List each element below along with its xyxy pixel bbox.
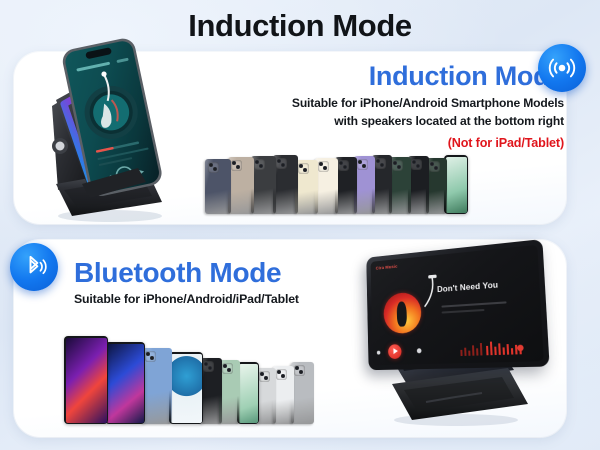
camera-module-icon	[392, 160, 403, 171]
song-meta-line-1	[441, 301, 506, 307]
device-screen	[239, 364, 258, 423]
induction-product-image	[34, 26, 184, 226]
device-galaxy-s-green	[389, 157, 411, 214]
induction-subtitle-line-1: Suitable for iPhone/Android Smartphone M…	[216, 95, 564, 112]
camera-module-icon	[375, 158, 386, 169]
camera-module-icon	[208, 162, 219, 173]
camera-module-icon	[276, 158, 287, 169]
device-tablet-teal-front	[169, 352, 203, 424]
device-galaxy-s-black	[335, 157, 357, 214]
bluetooth-text-block: Bluetooth Mode Suitable for iPhone/Andro…	[74, 258, 394, 309]
earbud-wire-graphic	[416, 274, 445, 315]
device-iphone-15-yellow	[295, 160, 318, 214]
device-iphone-pro-silver	[256, 368, 276, 424]
device-screen	[66, 338, 107, 423]
camera-module-icon	[231, 160, 242, 171]
device-galaxy-note-mint	[219, 360, 240, 424]
bluetooth-signal-icon	[19, 252, 49, 282]
camera-module-icon	[276, 369, 287, 380]
induction-badge	[538, 44, 586, 92]
device-galaxy-note-light-green	[237, 362, 259, 424]
camera-module-icon	[259, 371, 270, 382]
device-ipad-pro-silver	[105, 342, 145, 424]
music-app-name: Cira Music	[376, 264, 398, 271]
bluetooth-heading: Bluetooth Mode	[74, 258, 394, 288]
camera-module-icon	[145, 351, 156, 362]
device-galaxy-s-black-2	[408, 156, 429, 214]
device-screen	[171, 354, 202, 423]
device-iphone-pro-white	[273, 366, 294, 424]
induction-compatible-devices-row	[205, 148, 468, 214]
equalizer-visualizer	[460, 340, 526, 356]
tablet-device: Cira Music Don't Need You	[366, 239, 549, 370]
camera-module-icon	[357, 159, 368, 170]
induction-text-block: Induction Mode Suitable for iPhone/Andro…	[216, 62, 564, 150]
song-meta-line-2	[442, 309, 485, 314]
phone-on-stand-illustration	[34, 26, 184, 226]
playback-controls	[372, 332, 543, 360]
camera-module-icon	[294, 365, 305, 376]
album-artwork	[383, 291, 422, 334]
device-galaxy-s-lavender	[354, 156, 375, 214]
camera-module-icon	[318, 161, 329, 172]
camera-module-icon	[411, 159, 422, 170]
camera-module-icon	[254, 159, 265, 170]
device-galaxy-s-graphite	[372, 155, 392, 214]
device-iphone-pro-titanium	[291, 362, 314, 424]
bluetooth-badge	[10, 243, 58, 291]
next-track-button[interactable]	[417, 348, 422, 353]
device-iphone-15-pro-black-titanium	[251, 156, 276, 214]
device-screen	[107, 344, 144, 423]
camera-module-icon	[298, 163, 309, 174]
device-galaxy-s-front-green-screen	[444, 155, 468, 214]
device-screen	[446, 157, 467, 213]
device-iphone-15-pro-blue-titanium	[205, 159, 231, 214]
bluetooth-compatible-devices-row	[64, 326, 314, 424]
device-galaxy-note-black	[200, 358, 222, 424]
camera-module-icon	[429, 161, 440, 172]
prev-track-button[interactable]	[377, 351, 381, 355]
device-iphone-15-cream	[315, 158, 338, 214]
induction-heading: Induction Mode	[216, 62, 564, 91]
bluetooth-subtitle: Suitable for iPhone/Android/iPad/Tablet	[74, 291, 394, 308]
induction-subtitle-line-2: with speakers located at the bottom righ…	[216, 113, 564, 130]
play-button[interactable]	[388, 344, 402, 359]
wireless-broadcast-icon	[547, 53, 577, 83]
camera-module-icon	[338, 160, 349, 171]
song-title: Don't Need You	[437, 279, 498, 294]
bluetooth-product-image: Cira Music Don't Need You	[352, 244, 552, 430]
device-iphone-15-pro-natural-titanium	[228, 157, 254, 214]
device-galaxy-s-dark-green	[426, 158, 447, 214]
camera-module-icon	[203, 361, 214, 372]
device-ipad-pro-space-gray	[64, 336, 108, 424]
tablet-screen: Cira Music Don't Need You	[371, 245, 544, 366]
device-iphone-15-pro-dark-side	[273, 155, 298, 214]
camera-module-icon	[222, 363, 233, 374]
device-ipad-air-blue	[142, 348, 172, 424]
